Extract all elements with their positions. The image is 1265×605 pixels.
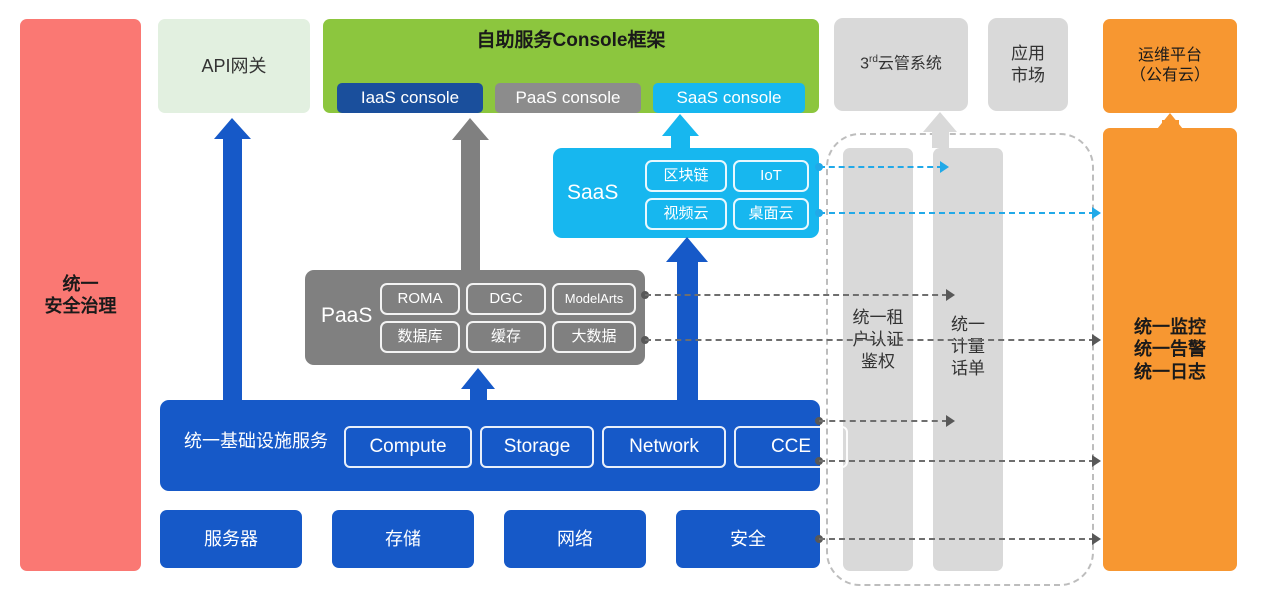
infrastructure-item-network[interactable]: Network: [602, 426, 726, 468]
console-frame-title: 自助服务Console框架: [323, 29, 819, 53]
shared-service-metering-line1: 统一: [933, 314, 1003, 336]
infrastructure-item-storage[interactable]: Storage: [480, 426, 594, 468]
api-gateway-arrow: [214, 118, 251, 402]
paas-infra-arrow: [461, 368, 495, 402]
console-frame-box: 自助服务Console框架 IaaS console PaaS console …: [323, 19, 819, 113]
api-gateway-label: API网关: [201, 55, 266, 78]
paas-item-dgc[interactable]: DGC: [466, 283, 546, 315]
resource-box-security[interactable]: 安全: [676, 510, 820, 568]
connector-arrow-saas-ops: [1092, 207, 1101, 219]
connector-line-resources-ops: [819, 538, 1095, 540]
connector-arrow-infra-ops: [1092, 455, 1101, 467]
infrastructure-label: 统一基础设施服务: [184, 430, 328, 453]
saas-console-arrow: [662, 114, 699, 150]
shared-service-auth-line1: 统一租: [843, 307, 913, 329]
connector-arrow-saas-auth: [940, 161, 949, 173]
security-governance-line1: 统一: [45, 273, 117, 296]
saas-box: SaaS 区块链 IoT 视频云 桌面云: [553, 148, 819, 238]
saas-item-blockchain[interactable]: 区块链: [645, 160, 727, 192]
resource-box-storage[interactable]: 存储: [332, 510, 474, 568]
saas-console-button[interactable]: SaaS console: [653, 83, 805, 113]
security-governance-column: 统一 安全治理: [20, 19, 141, 571]
paas-console-arrow: [452, 118, 489, 270]
third-party-cloud-mgmt-label: 3rd云管系统: [860, 54, 942, 74]
connector-line-paas-auth: [645, 294, 948, 296]
saas-item-iot[interactable]: IoT: [733, 160, 809, 192]
ops-platform-line2: （公有云）: [1130, 66, 1210, 86]
saas-item-video-cloud[interactable]: 视频云: [645, 198, 727, 230]
saas-item-desktop-cloud[interactable]: 桌面云: [733, 198, 809, 230]
shared-service-auth-line3: 鉴权: [843, 351, 913, 373]
iaas-console-button[interactable]: IaaS console: [337, 83, 483, 113]
app-market-line1: 应用: [1011, 43, 1045, 64]
resource-box-server[interactable]: 服务器: [160, 510, 302, 568]
paas-item-modelarts[interactable]: ModelArts: [552, 283, 636, 315]
connector-line-saas-ops: [819, 212, 1095, 214]
paas-item-cache[interactable]: 缓存: [466, 321, 546, 353]
app-market-box: 应用 市场: [988, 18, 1068, 111]
app-market-line2: 市场: [1011, 65, 1045, 86]
connector-arrow-resources-ops: [1092, 533, 1101, 545]
infrastructure-item-compute[interactable]: Compute: [344, 426, 472, 468]
paas-item-roma[interactable]: ROMA: [380, 283, 460, 315]
connector-arrow-paas-ops: [1092, 334, 1101, 346]
paas-item-bigdata[interactable]: 大数据: [552, 321, 636, 353]
security-governance-line2: 安全治理: [45, 295, 117, 318]
third-party-cloud-mgmt-box: 3rd云管系统: [834, 18, 968, 111]
connector-line-saas-auth: [819, 166, 943, 168]
shared-service-metering-line3: 话单: [933, 358, 1003, 380]
ops-column-line1: 统一监控: [1134, 316, 1206, 339]
ops-column-line3: 统一日志: [1134, 361, 1206, 384]
connector-arrow-paas-auth: [946, 289, 955, 301]
ops-column: 统一监控 统一告警 统一日志: [1103, 128, 1237, 571]
saas-infra-arrow: [666, 237, 708, 402]
ops-platform-box: 运维平台 （公有云）: [1103, 19, 1237, 113]
ops-platform-line1: 运维平台: [1130, 46, 1210, 66]
saas-label: SaaS: [567, 180, 618, 206]
connector-arrow-infra-auth: [946, 415, 955, 427]
architecture-diagram: 统一 安全治理 API网关 自助服务Console框架 IaaS console…: [0, 0, 1265, 605]
connector-line-infra-ops: [819, 460, 1095, 462]
connector-line-paas-ops: [645, 339, 1095, 341]
ops-column-line2: 统一告警: [1134, 338, 1206, 361]
paas-console-button[interactable]: PaaS console: [495, 83, 641, 113]
paas-label: PaaS: [321, 303, 372, 329]
resource-box-network[interactable]: 网络: [504, 510, 646, 568]
infrastructure-bar: 统一基础设施服务 Compute Storage Network CCE: [160, 400, 820, 491]
paas-item-database[interactable]: 数据库: [380, 321, 460, 353]
api-gateway-box: API网关: [158, 19, 310, 113]
paas-box: PaaS ROMA DGC ModelArts 数据库 缓存 大数据: [305, 270, 645, 365]
connector-line-infra-auth: [819, 420, 948, 422]
